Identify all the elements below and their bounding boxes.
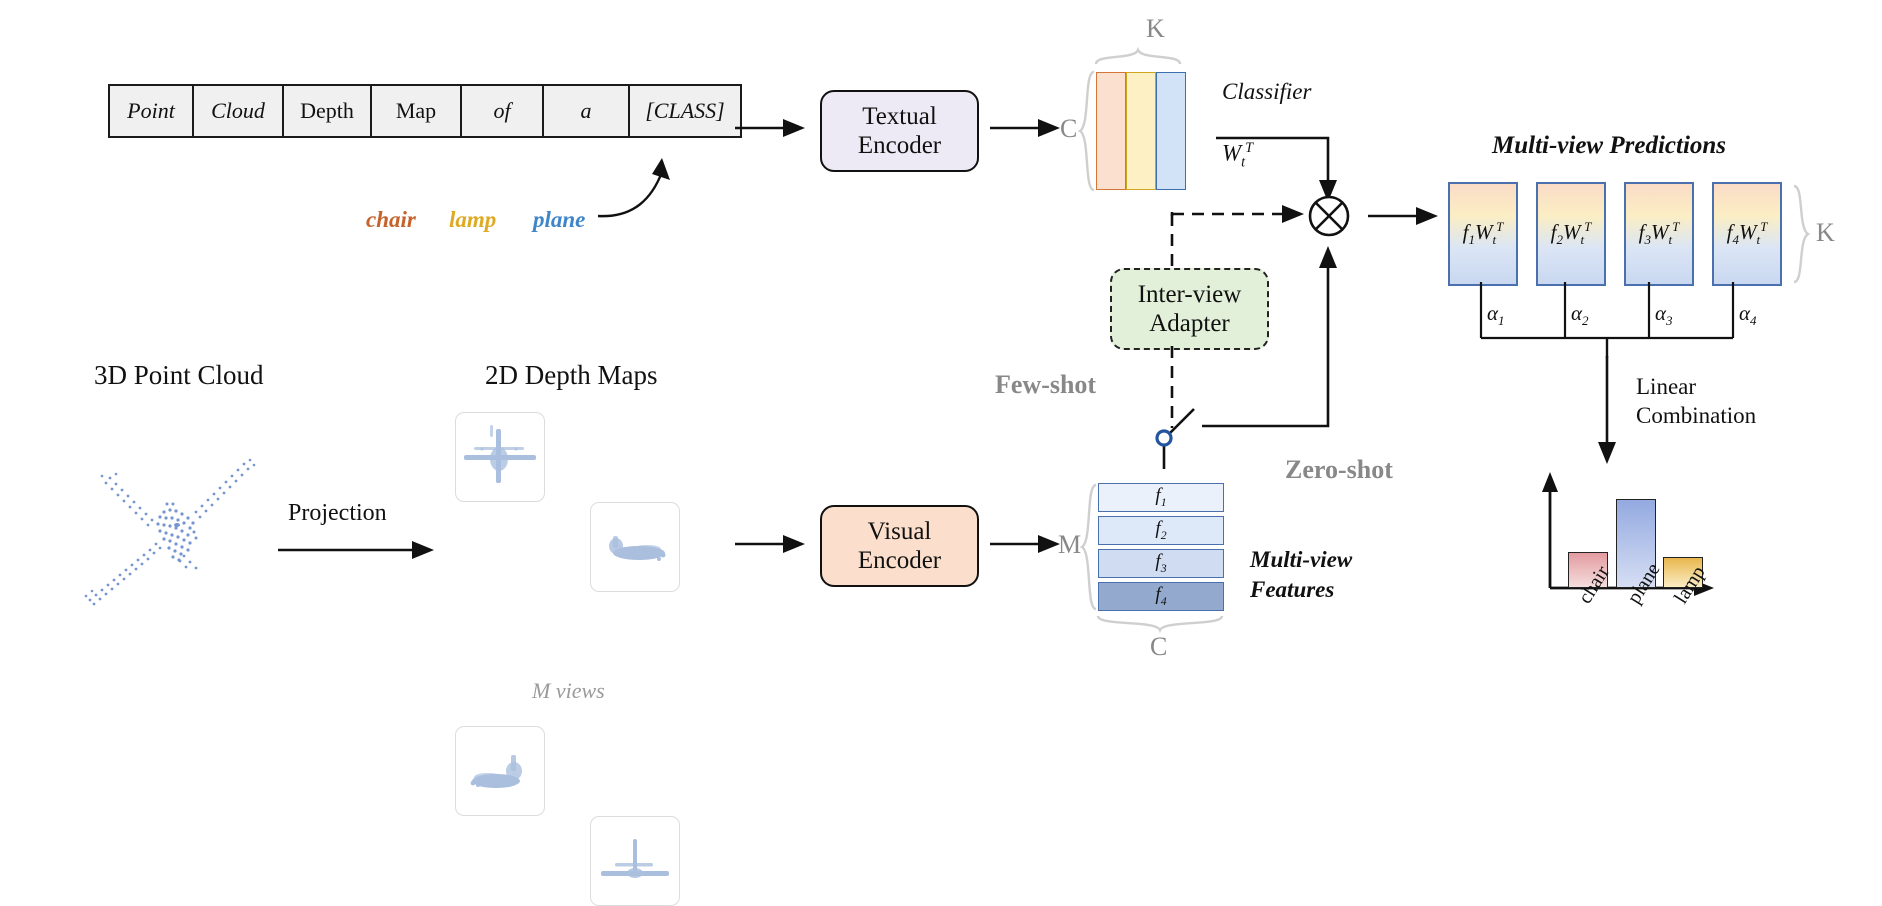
classifier-rows-dim-label: C xyxy=(1060,114,1077,144)
arrow-depthmaps-to-visual-encoder xyxy=(735,534,809,554)
depth-map-render-3 xyxy=(591,817,679,905)
features-rows-dim-label: M xyxy=(1058,530,1081,560)
prompt-token-5: a xyxy=(544,86,630,136)
feature-row-3: f4 xyxy=(1098,582,1224,611)
projection-label: Projection xyxy=(288,500,387,527)
prediction-label-0: f1WtT xyxy=(1463,219,1504,248)
classifier-column-chair xyxy=(1096,72,1126,190)
prompt-token-class: [CLASS] xyxy=(630,86,740,136)
prompt-token-1: Cloud xyxy=(194,86,284,136)
visual-encoder-line1: Visual xyxy=(868,518,932,545)
adapter-upper-dashed-line xyxy=(1168,214,1176,272)
predictions-dim-label: K xyxy=(1816,218,1835,248)
depth-maps-heading: 2D Depth Maps xyxy=(485,360,657,391)
depth-map-render-1 xyxy=(591,503,679,591)
predictions-right-brace xyxy=(1792,184,1810,284)
multi-view-predictions-row: f1WtT f2WtT f3WtT f4WtT xyxy=(1448,182,1782,286)
features-left-brace xyxy=(1080,483,1098,611)
classifier-column-lamp xyxy=(1126,72,1156,190)
prompt-token-3: Map xyxy=(372,86,462,136)
features-label-line1: Multi-view xyxy=(1250,547,1352,572)
alpha-label-2: α3 xyxy=(1655,301,1673,329)
arrow-prompt-to-textual-encoder xyxy=(735,118,809,138)
feature-label-1: f2 xyxy=(1155,518,1166,543)
prediction-box-1: f2WtT xyxy=(1536,182,1606,286)
depth-map-tile-2 xyxy=(455,726,545,816)
visual-encoder-box[interactable]: Visual Encoder xyxy=(820,505,979,587)
arrow-operator-to-predictions xyxy=(1368,206,1442,226)
linear-combination-arrow xyxy=(1598,356,1620,466)
class-substitution-arrow xyxy=(590,150,710,240)
depth-map-render-0 xyxy=(456,413,544,501)
classifier-column-plane xyxy=(1156,72,1186,190)
multi-view-predictions-title: Multi-view Predictions xyxy=(1492,132,1726,160)
depth-map-tile-1 xyxy=(590,502,680,592)
m-views-caption: M views xyxy=(532,678,605,704)
multi-view-feature-stack: f1 f2 f3 f4 xyxy=(1098,483,1224,611)
depth-map-render-2 xyxy=(456,727,544,815)
linear-combination-line1: Linear xyxy=(1636,374,1696,399)
feature-label-3: f4 xyxy=(1155,584,1166,609)
class-word-lamp: lamp xyxy=(449,207,496,233)
prompt-token-row: Point Cloud Depth Map of a [CLASS] xyxy=(108,84,742,138)
textual-encoder-box[interactable]: Textual Encoder xyxy=(820,90,979,172)
prediction-box-3: f4WtT xyxy=(1712,182,1782,286)
projection-arrow xyxy=(278,540,438,560)
few-shot-label: Few-shot xyxy=(995,370,1096,400)
zero-shot-label: Zero-shot xyxy=(1285,455,1393,485)
textual-encoder-line2: Encoder xyxy=(858,132,941,159)
prediction-label-3: f4WtT xyxy=(1727,219,1768,248)
prediction-box-0: f1WtT xyxy=(1448,182,1518,286)
classifier-label: Classifier xyxy=(1222,79,1311,105)
arrow-visual-encoder-to-features xyxy=(990,534,1064,554)
bar-chart-plot-area xyxy=(1550,486,1700,588)
classifier-left-brace xyxy=(1078,70,1096,192)
prompt-token-2: Depth xyxy=(284,86,372,136)
depth-map-tile-3 xyxy=(590,816,680,906)
alpha-label-3: α4 xyxy=(1739,301,1757,329)
feature-label-2: f3 xyxy=(1155,551,1166,576)
feature-row-1: f2 xyxy=(1098,516,1224,545)
features-cols-dim-label: C xyxy=(1150,632,1167,662)
alpha-label-1: α2 xyxy=(1571,301,1589,329)
point-cloud-heading: 3D Point Cloud xyxy=(94,360,264,391)
prediction-box-2: f3WtT xyxy=(1624,182,1694,286)
mode-switch-toggle[interactable] xyxy=(1140,405,1206,475)
features-bottom-brace xyxy=(1096,614,1226,632)
point-cloud-render xyxy=(72,440,282,610)
depth-map-tile-0 xyxy=(455,412,545,502)
prompt-token-0: Point xyxy=(110,86,194,136)
feature-row-2: f3 xyxy=(1098,549,1224,578)
class-word-chair: chair xyxy=(366,207,416,233)
feature-row-0: f1 xyxy=(1098,483,1224,512)
prediction-label-1: f2WtT xyxy=(1551,219,1592,248)
visual-encoder-line2: Encoder xyxy=(858,547,941,574)
prediction-label-2: f3WtT xyxy=(1639,219,1680,248)
arrow-textual-encoder-to-classifier xyxy=(990,118,1064,138)
textual-encoder-line1: Textual xyxy=(862,103,937,130)
features-label-line2: Features xyxy=(1250,577,1334,602)
classifier-matrix xyxy=(1096,72,1186,188)
feature-label-0: f1 xyxy=(1155,485,1166,510)
zero-shot-path-line xyxy=(1202,212,1334,432)
classifier-cols-dim-label: K xyxy=(1146,14,1165,44)
prediction-bar-chart: chair plane lamp xyxy=(1530,470,1720,600)
prompt-token-4: of xyxy=(462,86,544,136)
linear-combination-label: Linear Combination xyxy=(1636,372,1756,431)
alpha-label-0: α1 xyxy=(1487,301,1505,329)
multi-view-features-label: Multi-view Features xyxy=(1250,545,1352,605)
class-word-plane: plane xyxy=(533,207,585,233)
classifier-top-brace xyxy=(1094,48,1182,66)
linear-combination-line2: Combination xyxy=(1636,403,1756,428)
